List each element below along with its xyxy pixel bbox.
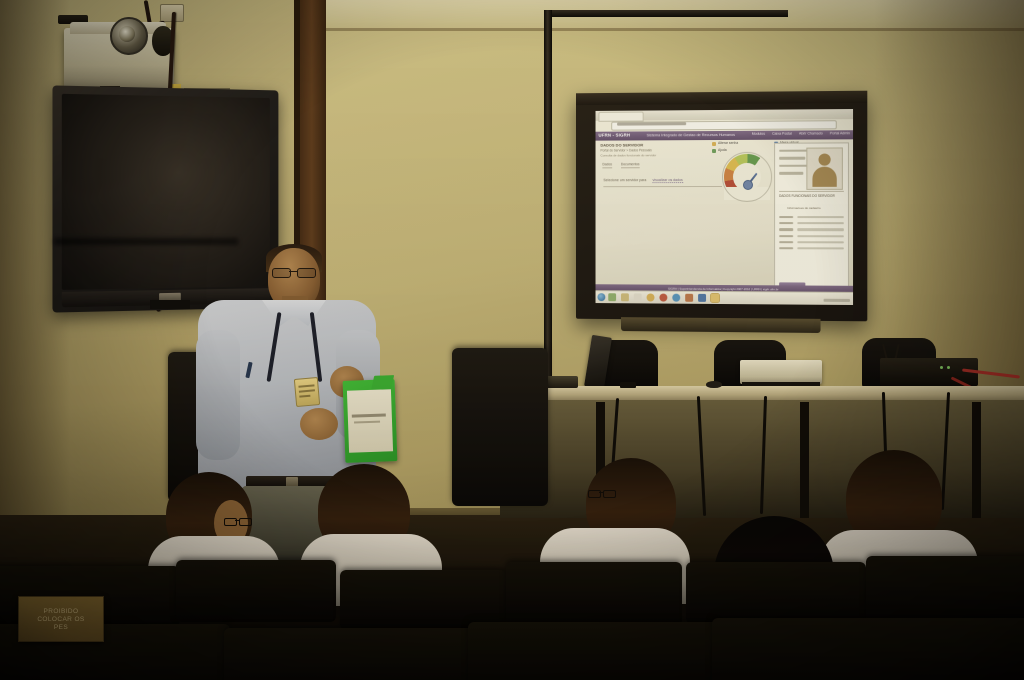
browser-tab[interactable] <box>598 112 643 122</box>
app-menu-bar[interactable]: Modulos Caixa Postal Abrir Chamado Porta… <box>752 131 850 136</box>
seat-back-c <box>340 570 506 630</box>
whiteboard-pen-tray <box>621 317 821 333</box>
photo-scene: UFRN - SIGRH Sistema Integrado de Gestao… <box>0 0 1024 680</box>
seat-front-b <box>224 628 474 680</box>
taskbar-icon-group[interactable] <box>608 293 719 302</box>
desk-leg-3 <box>972 402 981 518</box>
page-hint-link[interactable]: visualizar os dados <box>653 178 683 183</box>
rack-led-1 <box>940 366 943 369</box>
audience-1-glasses-icon <box>224 518 250 524</box>
info-section-caption: DADOS FUNCIONAIS DO SERVIDOR <box>779 194 835 198</box>
document-icon[interactable] <box>685 294 693 302</box>
info-label-3 <box>779 172 803 174</box>
info-label-2 <box>779 164 808 166</box>
chip-label-1[interactable]: Ajuda <box>718 148 727 152</box>
whiteboard-top-frame <box>576 91 867 105</box>
app-menu-item-2[interactable]: Abrir Chamado <box>799 131 823 135</box>
window-icon[interactable] <box>698 294 706 302</box>
desk-leg-2 <box>800 402 809 518</box>
gauge-left-outline <box>722 152 772 202</box>
app-menu-item-3[interactable]: Portal Admin <box>830 131 850 135</box>
seat-back-d <box>506 562 682 626</box>
rack-led-2 <box>947 366 950 369</box>
mouse <box>706 381 722 388</box>
green-folder <box>343 379 398 463</box>
browser-url-text <box>617 122 686 125</box>
windows-taskbar[interactable] <box>596 290 854 305</box>
servidor-info-panel: DADOS FUNCIONAIS DO SERVIDOR Informacoes… <box>774 142 849 296</box>
info-row <box>779 247 844 249</box>
white-projector-box <box>740 360 822 384</box>
projected-screen-content: UFRN - SIGRH Sistema Integrado de Gestao… <box>596 109 854 305</box>
app-brand-label: UFRN - SIGRH <box>598 133 630 138</box>
warning-sign-line-3: PES <box>54 624 68 631</box>
avatar-body-icon <box>812 167 836 187</box>
screen-support-rail <box>548 10 788 17</box>
seat-front-c <box>468 622 718 680</box>
info-row <box>779 228 844 230</box>
presenter-arm-left <box>196 330 240 460</box>
info-label-0 <box>779 150 809 153</box>
projector-lens-inner <box>119 26 135 42</box>
avatar <box>806 147 842 189</box>
info-row <box>779 222 844 224</box>
warning-sign: PROIBIDO COLOCAR OS PES <box>18 596 104 642</box>
chip-icon-1 <box>712 149 716 153</box>
audience-3-glasses-icon <box>588 490 614 496</box>
tab-documentos[interactable]: Documentos <box>621 162 640 168</box>
app-menu-item-0[interactable]: Modulos <box>752 132 765 136</box>
whiteboard-tray-shadow <box>54 238 238 245</box>
page-tab-strip[interactable]: Dados Documentos <box>602 162 639 168</box>
info-row <box>779 216 844 218</box>
tv-screen <box>62 94 270 290</box>
info-row <box>779 235 844 237</box>
chrome-icon[interactable] <box>659 294 667 302</box>
warning-sign-line-1: PROIBIDO <box>44 608 79 615</box>
tv-wall-bracket <box>150 300 190 309</box>
tab-dados[interactable]: Dados <box>602 162 612 168</box>
seat-back-f <box>866 556 1024 622</box>
sun-icon[interactable] <box>647 293 655 301</box>
seat-back-b <box>176 560 336 622</box>
info-row <box>779 241 844 243</box>
folder-icon[interactable] <box>621 293 629 301</box>
breadcrumb-secondary: Consulta de dados funcionais do servidor <box>600 153 656 157</box>
folder-flap <box>371 375 394 390</box>
page-hint-text: Selecione um servidor para <box>603 178 646 182</box>
seat-front-d <box>712 618 1024 680</box>
mail-icon[interactable] <box>634 293 642 301</box>
warning-sign-line-2: COLOCAR OS <box>37 616 84 623</box>
gauge-left <box>724 154 770 200</box>
avatar-head-icon <box>819 154 831 166</box>
small-device <box>620 382 636 388</box>
presenter-hand-left <box>300 408 338 440</box>
adobe-icon[interactable] <box>711 294 719 302</box>
info-label-1 <box>779 157 805 160</box>
info-field-table <box>779 216 844 254</box>
page-divider <box>603 186 722 187</box>
wall-mounted-tv <box>52 85 278 312</box>
id-badge <box>294 377 320 407</box>
chair-center-back <box>452 348 548 506</box>
page-title: DADOS DO SERVIDOR <box>600 142 643 147</box>
start-button-icon[interactable] <box>597 293 605 301</box>
app-subtitle: Sistema Integrado de Gestao de Recursos … <box>647 133 735 137</box>
interactive-whiteboard: UFRN - SIGRH Sistema Integrado de Gestao… <box>576 91 867 322</box>
browser-icon[interactable] <box>672 294 680 302</box>
seat-back-e <box>686 562 866 624</box>
chip-icon-0 <box>712 142 716 146</box>
chip-label-0[interactable]: Alterar senha <box>718 141 738 145</box>
info-subcaption: Informacoes do cadastro <box>787 206 820 210</box>
presenter-glasses-icon <box>272 268 316 276</box>
info-divider <box>779 191 844 192</box>
taskbar-clock <box>824 299 850 302</box>
explorer-icon[interactable] <box>608 293 616 301</box>
app-menu-item-1[interactable]: Caixa Postal <box>772 132 792 136</box>
